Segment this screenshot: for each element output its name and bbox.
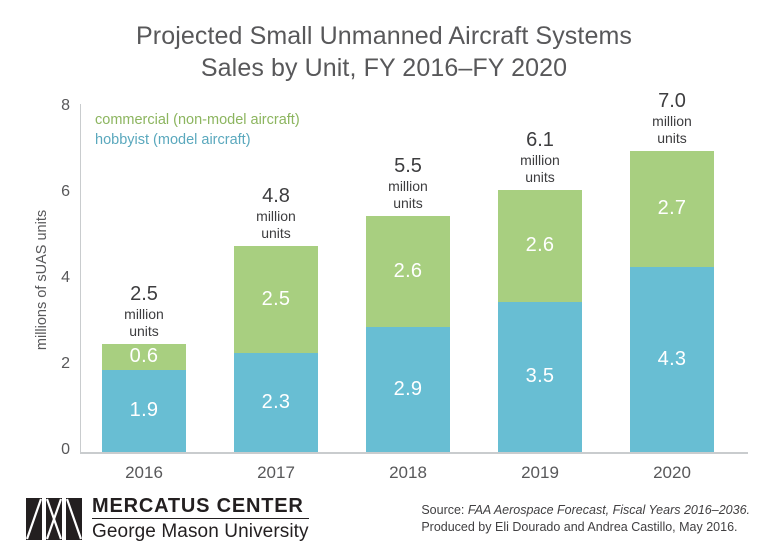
bar-total-unit1-2019: million [520,152,560,169]
bar-segment-hobbyist-2019[interactable]: 3.5 [498,302,582,452]
bar-segment-commercial-2018[interactable]: 2.6 [366,216,450,327]
bar-total-value-2018: 5.5 [388,154,428,178]
bar-total-2019: 6.1 million units [520,128,560,186]
bar-segment-hobbyist-2018[interactable]: 2.9 [366,327,450,452]
bar-value-commercial-2019: 2.6 [498,234,582,257]
chart-plot-area: millions of sUAS units 0 2 4 6 8 commerc… [0,0,768,490]
bar-total-unit2-2018: units [388,195,428,212]
bar-total-value-2017: 4.8 [256,184,296,208]
source-line-2: Produced by Eli Dourado and Andrea Casti… [421,519,750,536]
bar-value-hobbyist-2020: 4.3 [630,348,714,371]
bar-total-unit1-2017: million [256,208,296,225]
x-tick-2017: 2017 [234,463,318,483]
bar-total-unit2-2020: units [652,130,692,147]
mercatus-logo: MERCATUS CENTER George Mason University [26,496,309,541]
bar-segment-hobbyist-2016[interactable]: 1.9 [102,370,186,452]
mercatus-logo-title: MERCATUS CENTER [92,496,309,519]
bar-total-unit1-2018: million [388,178,428,195]
bar-segment-commercial-2020[interactable]: 2.7 [630,151,714,267]
source-prefix: Source: [421,503,468,517]
bar-segment-commercial-2016[interactable]: 0.6 [102,344,186,370]
bar-total-unit1-2016: million [124,306,164,323]
mercatus-m-mark-icon [26,498,82,540]
bar-total-2018: 5.5 million units [388,154,428,212]
source-line-1: Source: FAA Aerospace Forecast, Fiscal Y… [421,502,750,519]
bar-total-unit2-2017: units [256,225,296,242]
x-tick-2019: 2019 [498,463,582,483]
bar-segment-hobbyist-2017[interactable]: 2.3 [234,353,318,452]
bar-total-2017: 4.8 million units [256,184,296,242]
bar-value-hobbyist-2017: 2.3 [234,391,318,414]
bar-total-2016: 2.5 million units [124,282,164,340]
bar-total-value-2016: 2.5 [124,282,164,306]
bar-total-2020: 7.0 million units [652,89,692,147]
bar-value-hobbyist-2018: 2.9 [366,378,450,401]
bar-value-commercial-2018: 2.6 [366,260,450,283]
bar-total-value-2020: 7.0 [652,89,692,113]
bar-total-unit1-2020: million [652,113,692,130]
bar-value-commercial-2017: 2.5 [234,288,318,311]
bar-group-2020[interactable]: 2.7 4.3 7.0 million units [630,151,714,452]
mercatus-logo-subtitle: George Mason University [92,519,309,541]
bars-layer: 0.6 1.9 2.5 million units 2.5 2.3 4.8 mi… [0,0,768,490]
bar-value-commercial-2020: 2.7 [630,197,714,220]
bar-group-2018[interactable]: 2.6 2.9 5.5 million units [366,216,450,452]
x-tick-2020: 2020 [630,463,714,483]
bar-value-hobbyist-2016: 1.9 [102,399,186,422]
bar-segment-hobbyist-2020[interactable]: 4.3 [630,267,714,452]
bar-segment-commercial-2017[interactable]: 2.5 [234,246,318,353]
source-note: Source: FAA Aerospace Forecast, Fiscal Y… [421,502,750,536]
mercatus-logo-text: MERCATUS CENTER George Mason University [92,496,309,541]
bar-value-commercial-2016: 0.6 [102,345,186,368]
x-tick-2018: 2018 [366,463,450,483]
bar-group-2019[interactable]: 2.6 3.5 6.1 million units [498,190,582,452]
bar-total-value-2019: 6.1 [520,128,560,152]
bar-segment-commercial-2019[interactable]: 2.6 [498,190,582,302]
x-tick-2016: 2016 [102,463,186,483]
bar-group-2017[interactable]: 2.5 2.3 4.8 million units [234,246,318,452]
bar-total-unit2-2019: units [520,169,560,186]
chart-footer: MERCATUS CENTER George Mason University … [0,490,768,556]
bar-total-unit2-2016: units [124,323,164,340]
bar-value-hobbyist-2019: 3.5 [498,365,582,388]
bar-group-2016[interactable]: 0.6 1.9 2.5 million units [102,344,186,452]
source-citation: FAA Aerospace Forecast, Fiscal Years 201… [468,503,750,517]
